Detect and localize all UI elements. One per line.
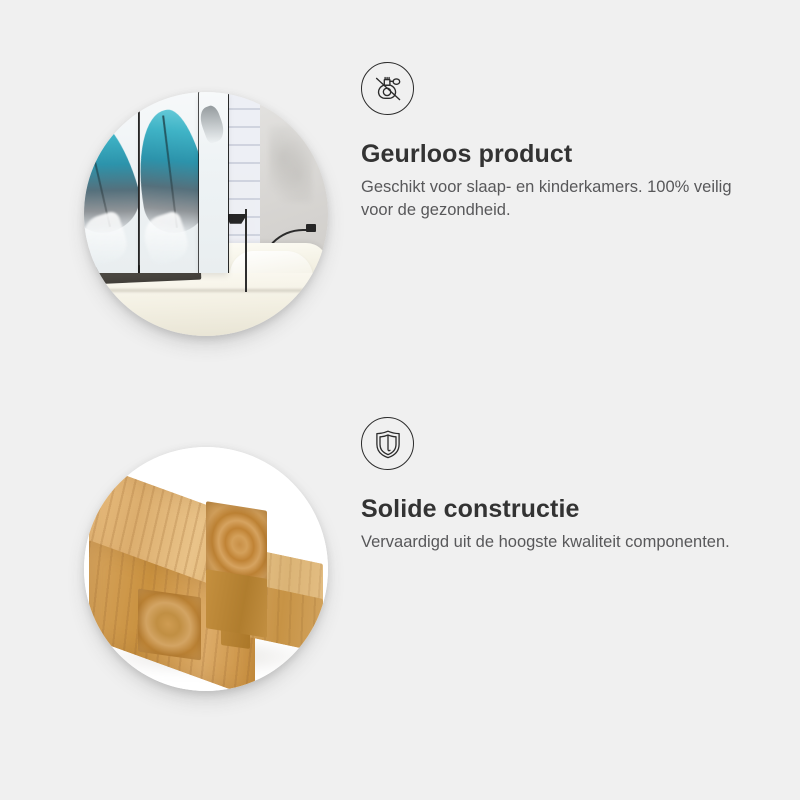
feature-block-geurloos-product: Geurloos product Geschikt voor slaap- en… (0, 62, 800, 372)
feature-photo-wooden-beams (84, 447, 328, 691)
floor-lamp-pole (245, 209, 247, 292)
circular-photo-frame (84, 92, 328, 336)
product-feature-banner: Geurloos product Geschikt voor slaap- en… (0, 0, 800, 800)
no-fragrance-glyph (371, 72, 405, 106)
shield-icon (361, 417, 414, 470)
bedroom-scene (84, 92, 328, 336)
feather-art-panel (140, 92, 199, 273)
circular-photo-frame (84, 447, 328, 691)
feature-description: Geschikt voor slaap- en kinderkamers. 10… (361, 176, 753, 223)
wooden-beam (206, 569, 267, 637)
feature-photo-bedroom (84, 92, 328, 336)
wooden-beams-scene (84, 447, 328, 691)
feature-text-column: Solide constructie Vervaardigd uit de ho… (361, 417, 761, 554)
shield-glyph (373, 428, 403, 460)
no-fragrance-icon (361, 62, 414, 115)
feature-block-solide-constructie: Solide constructie Vervaardigd uit de ho… (0, 417, 800, 727)
window-icon (226, 92, 260, 263)
feature-description: Vervaardigd uit de hoogste kwaliteit com… (361, 531, 753, 554)
feature-text-column: Geurloos product Geschikt voor slaap- en… (361, 62, 761, 223)
feather-art-panel (84, 92, 138, 273)
feature-title: Geurloos product (361, 139, 761, 169)
feather-wisp (199, 104, 228, 145)
feature-title: Solide constructie (361, 494, 761, 524)
wooden-beam (138, 589, 201, 661)
feather-art-panel (199, 92, 228, 273)
